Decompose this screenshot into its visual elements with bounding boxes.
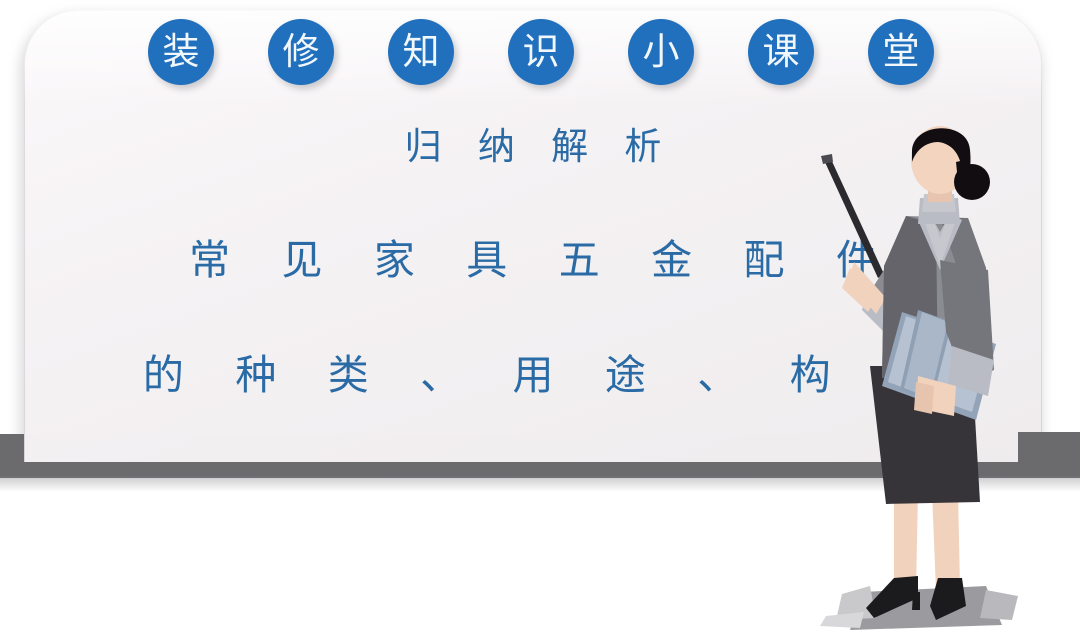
legs-icon [894,492,960,590]
title-badge-7: 堂 [868,19,934,85]
teacher-figure [790,120,1080,637]
slide-canvas: 装 修 知 识 小 课 堂 归 纳 解 析 常 见 家 具 五 金 配 件 的 … [0,0,1080,637]
title-badge-char: 识 [523,33,560,70]
pointer-stick-icon [821,154,884,278]
title-badge-char: 小 [643,33,680,70]
title-badge-char: 知 [403,33,440,70]
title-badge-char: 课 [763,33,800,70]
title-badge-4: 识 [508,19,574,85]
title-badge-char: 装 [163,33,200,70]
title-badge-5: 小 [628,19,694,85]
title-badge-3: 知 [388,19,454,85]
title-badge-2: 修 [268,19,334,85]
title-badge-6: 课 [748,19,814,85]
title-badge-row: 装 修 知 识 小 课 堂 [148,19,934,85]
title-badge-char: 堂 [883,33,920,70]
title-badge-char: 修 [283,33,320,70]
title-badge-1: 装 [148,19,214,85]
